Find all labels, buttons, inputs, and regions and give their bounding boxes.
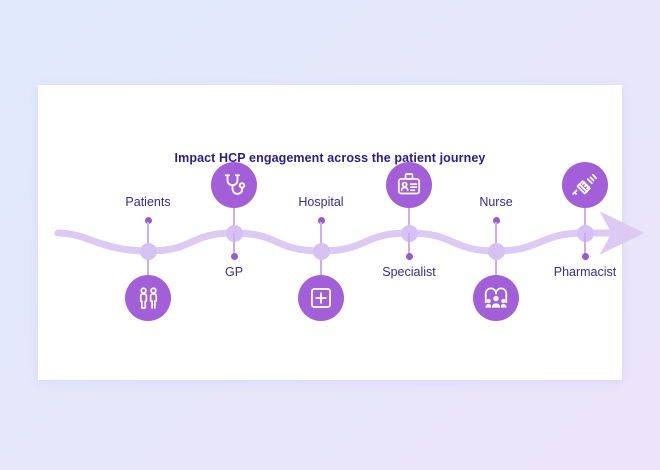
infographic-stage: Impact HCP engagement across the patient…: [0, 0, 660, 470]
journey-tip-dot: [231, 253, 238, 260]
heart-care-team-icon[interactable]: [473, 275, 519, 321]
journey-hub-dot: [488, 243, 505, 260]
patient-journey-timeline: Patients: [38, 170, 622, 330]
journey-hub-dot: [140, 243, 157, 260]
journey-step-label-nurse: Nurse: [421, 195, 571, 209]
page-title: Impact HCP engagement across the patient…: [38, 151, 622, 165]
syringe-icon[interactable]: [562, 162, 608, 208]
journey-step-label-specialist: Specialist: [334, 265, 484, 279]
journey-tip-dot: [406, 253, 413, 260]
hospital-plus-icon[interactable]: [298, 275, 344, 321]
journey-tip-dot: [582, 253, 589, 260]
journey-hub-dot: [313, 243, 330, 260]
journey-step-label-pharmacist: Pharmacist: [510, 265, 660, 279]
journey-stem-down: [233, 233, 235, 254]
two-people-icon[interactable]: [125, 275, 171, 321]
journey-step-label-hospital: Hospital: [246, 195, 396, 209]
infographic-card: Impact HCP engagement across the patient…: [38, 85, 622, 380]
journey-step-label-gp: GP: [159, 265, 309, 279]
journey-stem-down: [408, 233, 410, 254]
journey-step-label-patients: Patients: [73, 195, 223, 209]
journey-stem-down: [584, 233, 586, 254]
